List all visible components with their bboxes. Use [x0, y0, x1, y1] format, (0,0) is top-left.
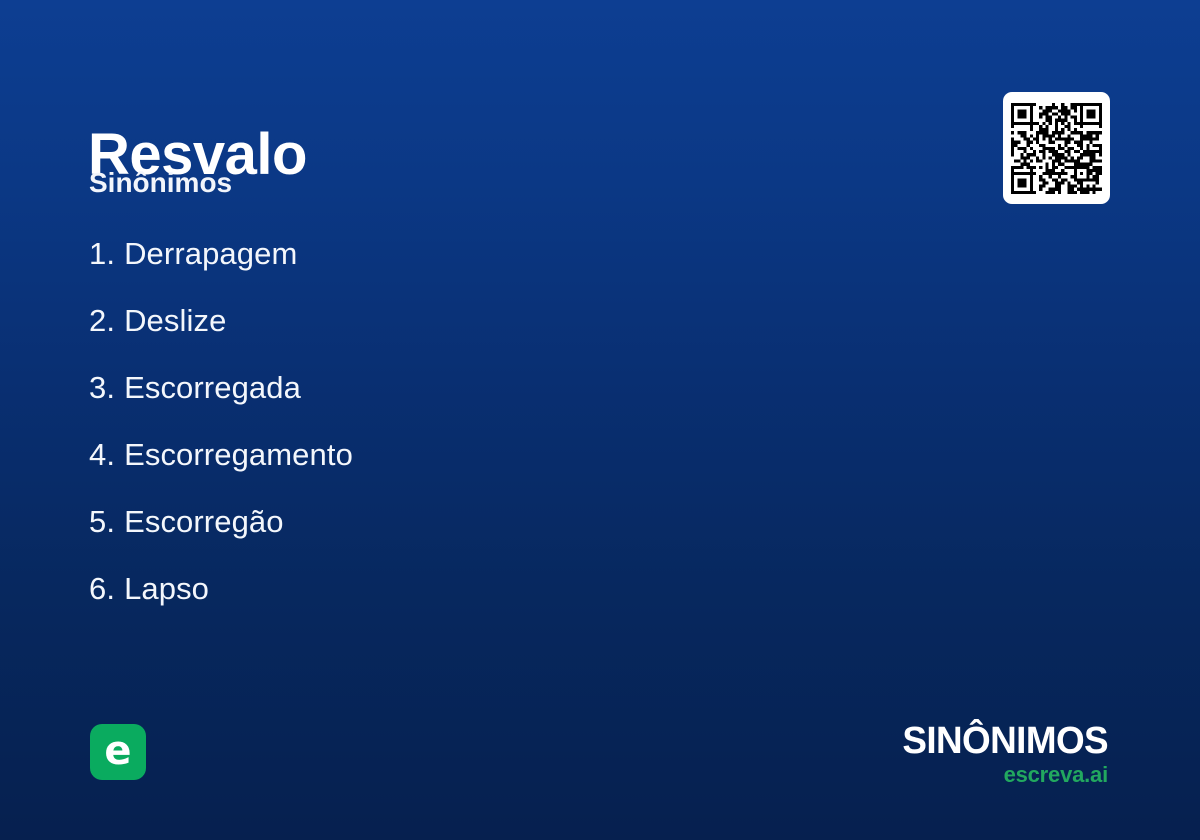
- qr-code-icon: [1011, 103, 1102, 194]
- list-item: 4. Escorregamento: [89, 437, 869, 504]
- escreva-badge[interactable]: e: [90, 724, 146, 780]
- list-item: 2. Deslize: [89, 303, 869, 370]
- list-item-index: 3.: [89, 370, 115, 406]
- list-item-word: Lapso: [124, 571, 209, 607]
- brand-domain: escreva.ai: [896, 764, 1108, 786]
- brand-logo: SINÔNIMOS escreva.ai: [896, 722, 1108, 786]
- list-item-index: 2.: [89, 303, 115, 339]
- list-item-word: Escorregamento: [124, 437, 353, 473]
- qr-code[interactable]: [1003, 92, 1110, 204]
- list-item-index: 6.: [89, 571, 115, 607]
- list-item-word: Deslize: [124, 303, 226, 339]
- list-item-index: 1.: [89, 236, 115, 272]
- list-item: 6. Lapso: [89, 571, 869, 638]
- list-item: 5. Escorregão: [89, 504, 869, 571]
- synonym-card: Resvalo Sinônimos 1. Derrapagem 2. Desli…: [0, 0, 1200, 840]
- list-item: 3. Escorregada: [89, 370, 869, 437]
- brand-name: SINÔNIMOS: [902, 722, 1108, 760]
- synonym-list: 1. Derrapagem 2. Deslize 3. Escorregada …: [89, 236, 869, 638]
- page-subtitle: Sinônimos: [89, 166, 232, 200]
- list-item-word: Escorregada: [124, 370, 301, 406]
- list-item-word: Escorregão: [124, 504, 284, 540]
- list-item-index: 4.: [89, 437, 115, 473]
- list-item-word: Derrapagem: [124, 236, 297, 272]
- list-item-index: 5.: [89, 504, 115, 540]
- badge-letter: e: [104, 731, 131, 771]
- list-item: 1. Derrapagem: [89, 236, 869, 303]
